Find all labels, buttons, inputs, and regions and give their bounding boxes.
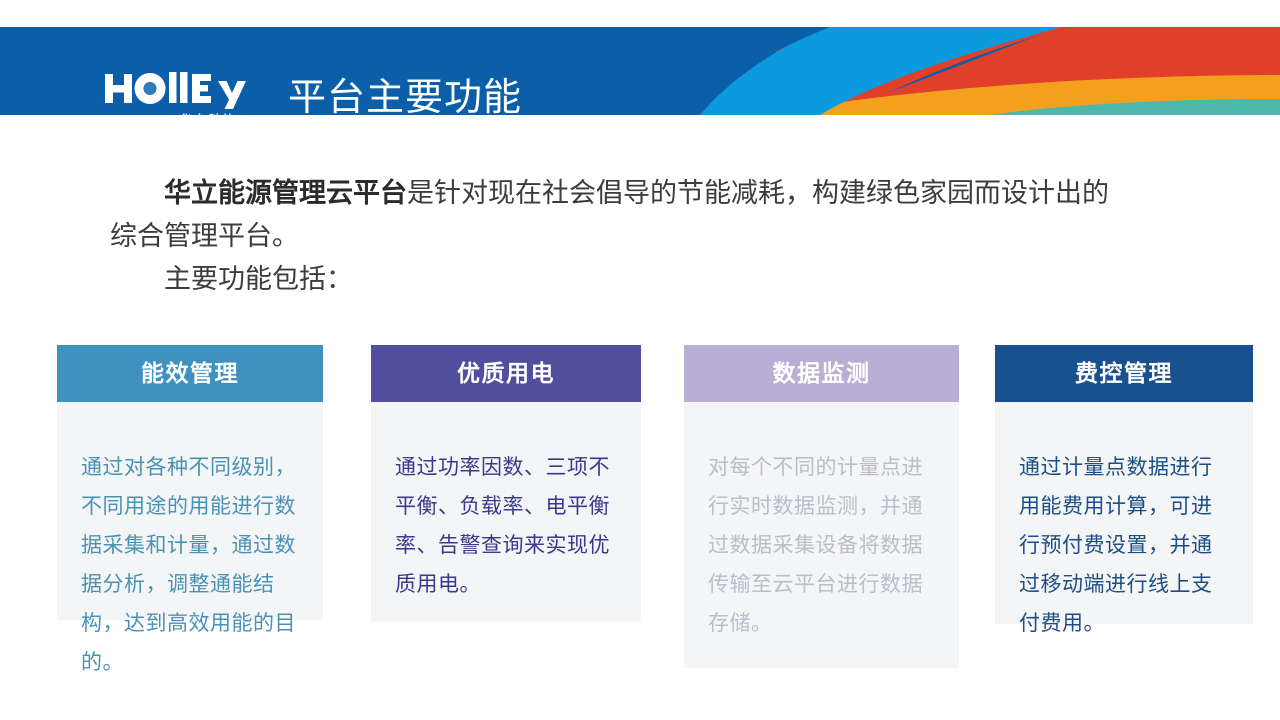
card-description-fee-control: 通过计量点数据进行用能费用计算，可进行预付费设置，并通过移动端进行线上支付费用。 <box>995 402 1253 643</box>
feature-card-row: 能效管理 通过对各种不同级别，不同用途的用能进行数据采集和计量，通过数据分析，调… <box>0 0 1280 720</box>
card-description-energy-efficiency: 通过对各种不同级别，不同用途的用能进行数据采集和计量，通过数据分析，调整通能结构… <box>57 402 323 682</box>
card-description-data-monitoring: 对每个不同的计量点进行实时数据监测，并通过数据采集设备将数据传输至云平台进行数据… <box>684 402 959 643</box>
card-title-quality-power: 优质用电 <box>371 345 641 402</box>
card-title-energy-efficiency: 能效管理 <box>57 345 323 402</box>
card-title-fee-control: 费控管理 <box>995 345 1253 402</box>
card-title-data-monitoring: 数据监测 <box>684 345 959 402</box>
card-description-quality-power: 通过功率因数、三项不平衡、负载率、电平衡率、告警查询来实现优质用电。 <box>371 402 641 604</box>
